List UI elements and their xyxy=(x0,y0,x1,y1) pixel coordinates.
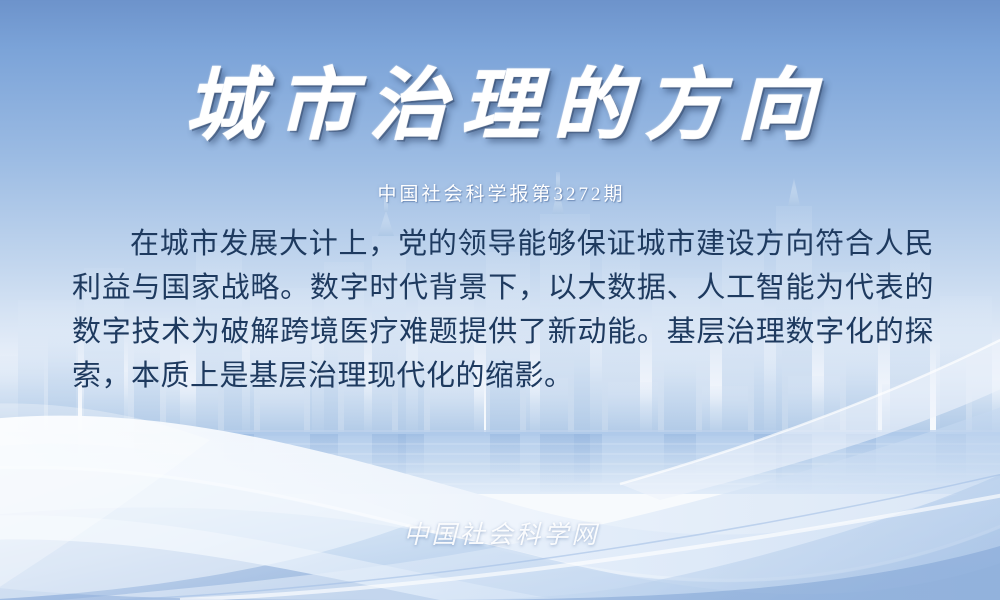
watermark-block: 中国社会科学网 xyxy=(0,521,1000,551)
subtitle-block: 中国社会科学报第3272期 xyxy=(0,183,1000,208)
poster-canvas: 城市治理的方向 中国社会科学报第3272期 在城市发展大计上，党的领导能够保证城… xyxy=(0,0,1000,600)
publication-issue-subtitle: 中国社会科学报第3272期 xyxy=(374,183,625,208)
body-block: 在城市发展大计上，党的领导能够保证城市建设方向符合人民利益与国家战略。数字时代背… xyxy=(72,222,934,398)
water-surface xyxy=(0,432,1000,494)
page-title: 城市治理的方向 xyxy=(171,62,829,149)
wave-band-right-light xyxy=(60,400,1000,600)
wave-band-1 xyxy=(0,416,1000,600)
water-ripples xyxy=(0,444,1000,484)
wave-left-glow xyxy=(0,403,210,600)
body-paragraph: 在城市发展大计上，党的领导能够保证城市建设方向符合人民利益与国家战略。数字时代背… xyxy=(72,222,934,398)
site-watermark: 中国社会科学网 xyxy=(400,521,599,551)
title-block: 城市治理的方向 xyxy=(0,62,1000,149)
shoreline xyxy=(0,430,1000,436)
water-reflections xyxy=(48,434,966,492)
